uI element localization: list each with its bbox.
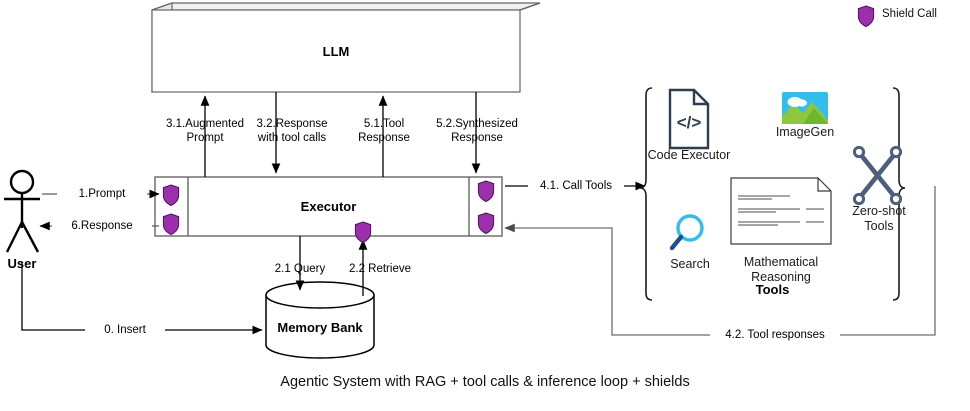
tool-label-mathematical-reasoning-line1: Mathematical: [726, 255, 836, 270]
edge-label-synthesized-response-line1: 5.2.Synthesized: [418, 117, 536, 131]
tool-label-zero-shot-tools-line1: Zero-shot: [838, 204, 920, 219]
edge-label-query: 2.1 Query: [262, 262, 338, 276]
crossed-wrenches-icon[interactable]: [854, 147, 900, 203]
llm-label: LLM: [152, 44, 520, 59]
svg-text:</>: </>: [677, 113, 702, 132]
formula-document-icon[interactable]: [731, 178, 831, 244]
code-document-icon[interactable]: </>: [670, 90, 708, 148]
tool-label-zero-shot-tools-line2: Tools: [838, 219, 920, 234]
tool-label-search: Search: [655, 257, 725, 272]
legend-shield-call-label: Shield Call: [882, 8, 937, 20]
edge-label-prompt: 1.Prompt: [57, 187, 147, 201]
magnifier-icon[interactable]: [672, 216, 702, 248]
memory-bank-label: Memory Bank: [266, 320, 374, 335]
edge-label-insert: 0. Insert: [85, 323, 165, 337]
edge-label-synthesized-response-line2: Response: [418, 131, 536, 145]
tool-icons-layer: </>: [0, 0, 970, 411]
tool-label-code-executor: Code Executor: [643, 148, 735, 163]
edge-label-response: 6.Response: [52, 219, 152, 233]
executor-label: Executor: [188, 199, 469, 214]
tool-label-imagegen: ImageGen: [760, 125, 850, 140]
edge-label-tool-responses: 4.2. Tool responses: [710, 328, 840, 342]
edge-label-call-tools: 4.1. Call Tools: [528, 179, 624, 193]
user-label: User: [0, 256, 44, 271]
diagram-caption: Agentic System with RAG + tool calls & i…: [0, 374, 970, 390]
image-icon[interactable]: [782, 92, 828, 124]
edge-label-retrieve: 2.2 Retrieve: [336, 262, 424, 276]
tool-label-mathematical-reasoning-line2: Reasoning: [726, 270, 836, 285]
